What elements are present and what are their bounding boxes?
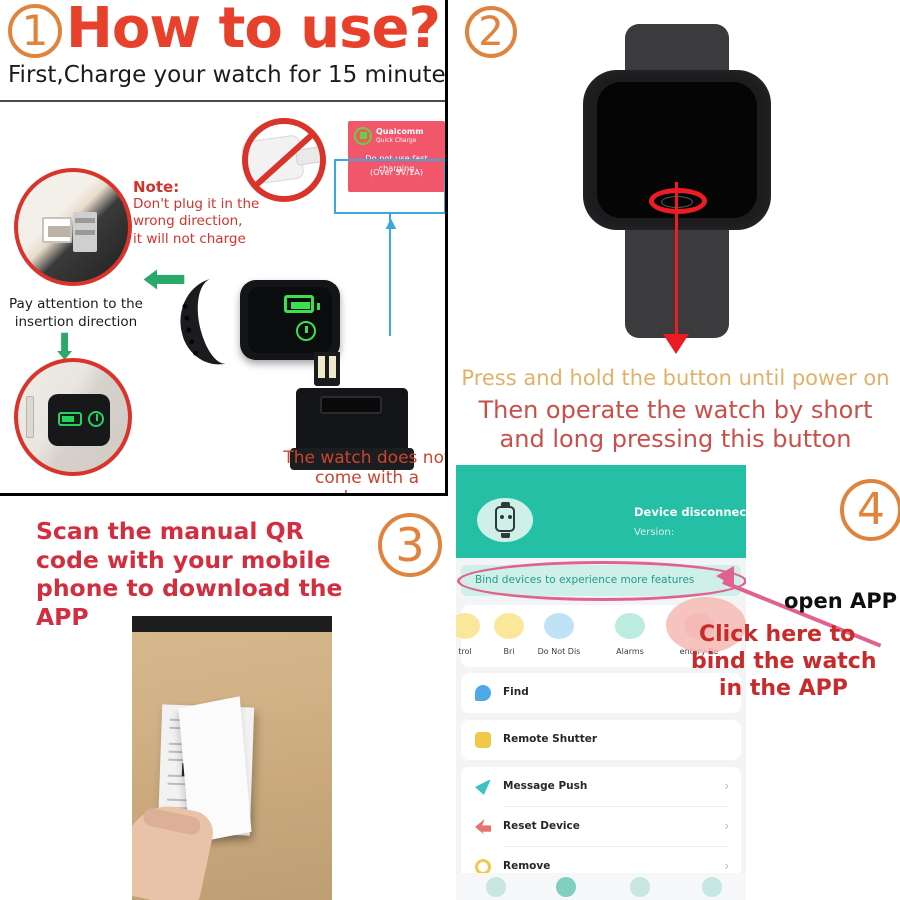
brightness-icon	[494, 613, 524, 639]
step-badge-1: 1	[8, 4, 62, 58]
panel-bind-app: Device disconnect Version: Bind devices …	[451, 462, 900, 900]
cta-line-3: in the APP	[719, 676, 848, 701]
quick-action-alarms[interactable]: Alarms	[604, 613, 656, 656]
button-highlight-ellipse	[649, 188, 707, 214]
remote-shutter-card: Remote Shutter	[461, 720, 741, 760]
app-screenshot: Device disconnect Version: Bind devices …	[456, 465, 746, 900]
operate-instruction-line1: Then operate the watch by short	[451, 396, 900, 424]
find-card: Find	[461, 673, 741, 713]
step-badge-3: 3	[378, 513, 442, 577]
find-icon	[475, 685, 491, 701]
note-body: Don't plug it in thewrong direction,it w…	[133, 196, 259, 248]
red-arrow-head-icon	[663, 334, 689, 354]
table-edge	[132, 616, 332, 632]
bind-highlight-ellipse	[457, 561, 746, 601]
row-label: Message Push	[503, 780, 587, 792]
bottom-nav-bar	[456, 873, 746, 900]
watch-charging-photo	[218, 272, 338, 372]
list-item[interactable]: Message Push ›	[461, 767, 741, 807]
watch-usb-connector	[314, 352, 340, 386]
avatar	[477, 498, 533, 542]
usb-insertion-photo-correct	[14, 168, 132, 286]
battery-icon	[58, 412, 82, 426]
quick-action-brightness[interactable]: Bri	[483, 613, 535, 656]
panel3-title: Scan the manual QRcode with your mobilep…	[36, 517, 366, 632]
alarms-icon	[615, 613, 645, 639]
list-item[interactable]: Reset Device ›	[461, 807, 741, 847]
quick-label: Do Not Dis	[533, 647, 585, 656]
cta-line-2: bind the watch	[691, 649, 877, 674]
power-on-instruction: Press and hold the button until power on	[451, 366, 900, 390]
chevron-right-icon: ›	[725, 818, 729, 833]
panel-power-on: 2 Press and hold the button until power …	[451, 0, 900, 462]
usb-slot	[26, 396, 34, 438]
no-charger-note: The watch does notcome with a charger	[282, 448, 448, 496]
cta-line-1: Click here to	[699, 622, 855, 647]
divider	[0, 100, 448, 102]
message-push-icon	[475, 779, 491, 795]
page-title: How to use?	[66, 0, 440, 61]
list-item[interactable]: Find	[461, 673, 741, 713]
list-item[interactable]: Remote Shutter	[461, 720, 741, 760]
app-header: Device disconnect Version:	[456, 465, 746, 558]
row-label: Reset Device	[503, 820, 580, 832]
mini-watch	[48, 394, 110, 446]
nav-icon-4[interactable]	[702, 877, 722, 897]
qualcomm-logo-icon	[354, 127, 372, 145]
reset-device-icon	[475, 819, 491, 835]
device-status: Device disconnect	[634, 505, 746, 519]
blue-callout-box	[334, 159, 446, 214]
chevron-right-icon: ›	[725, 858, 729, 873]
control-icon	[456, 613, 480, 639]
operate-instruction-line2: and long pressing this button	[451, 425, 900, 453]
blue-arrow-up-icon: ▲	[382, 214, 400, 232]
power-icon	[88, 411, 104, 427]
green-arrow-left-icon: ⬅	[142, 256, 187, 302]
chevron-right-icon: ›	[725, 778, 729, 793]
usb-port	[42, 217, 72, 243]
open-app-label: open APP	[784, 589, 897, 613]
usb-plug	[73, 212, 97, 252]
row-label: Find	[503, 686, 529, 698]
do-not-disturb-icon	[544, 613, 574, 639]
camera-icon	[475, 732, 491, 748]
row-label: Remote Shutter	[503, 733, 597, 745]
watch-screen	[248, 287, 332, 353]
nav-icon-1[interactable]	[486, 877, 506, 897]
step-badge-4: 4	[840, 479, 900, 541]
note-heading: Note:	[133, 178, 179, 197]
panel1-subtitle: First,Charge your watch for 15 minutes	[8, 62, 448, 88]
quick-label: Bri	[483, 647, 535, 656]
qualcomm-name: Qualcomm	[376, 127, 424, 136]
step-badge-2: 2	[465, 6, 517, 58]
qualcomm-subtitle: Quick Charge	[376, 137, 416, 144]
pink-arrow-head-icon	[716, 566, 734, 586]
infographic-page: 1 How to use? First,Charge your watch fo…	[0, 0, 900, 900]
watch-face-dots	[500, 515, 504, 519]
nav-icon-2[interactable]	[556, 877, 576, 897]
manual-photo	[132, 616, 332, 900]
battery-charging-icon	[284, 295, 314, 313]
watch-icon	[495, 506, 515, 532]
dock-slot	[320, 396, 382, 414]
usb-insertion-photo-charging	[14, 358, 132, 476]
panel-how-to-use: 1 How to use? First,Charge your watch fo…	[0, 0, 448, 496]
quick-action-dnd[interactable]: Do Not Dis	[533, 613, 585, 656]
nav-icon-3[interactable]	[630, 877, 650, 897]
row-label: Remove	[503, 860, 550, 872]
quick-label: Alarms	[604, 647, 656, 656]
watch-case	[240, 280, 340, 360]
power-symbol-icon	[296, 321, 316, 341]
red-arrow-line	[675, 182, 678, 342]
version-label: Version:	[634, 527, 674, 538]
